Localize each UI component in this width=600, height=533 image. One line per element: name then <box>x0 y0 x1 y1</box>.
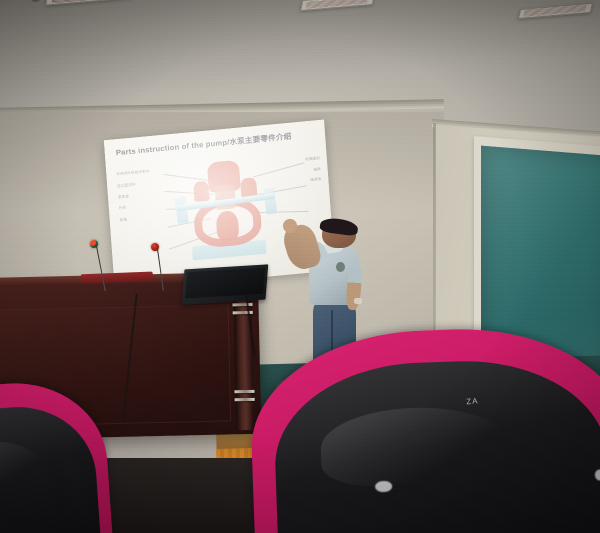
slide-label-left-3: 泵体盖 <box>118 190 171 200</box>
slide-label-left-1: 半开式叶轮技术条件 <box>116 167 169 177</box>
seat-highlight <box>320 405 509 488</box>
slide-label-left-5: 泵轴 <box>120 213 173 223</box>
presenter-laptop <box>182 264 269 304</box>
seat-marking: ZA <box>465 397 478 407</box>
column-ring-2 <box>233 311 253 314</box>
seat-specular-1 <box>375 481 392 493</box>
seat-foreground-right: ZA <box>248 324 600 533</box>
slide-label-right-3: 轴承体 <box>273 176 322 186</box>
pump-cross-section-diagram <box>172 154 280 263</box>
presenter-wristwatch-icon <box>354 298 362 304</box>
seat-foreground-left <box>0 377 114 533</box>
slide-labels-left: 半开式叶轮技术条件 进口密封环 泵体盖 叶轮 泵轴 <box>116 167 173 229</box>
slide-label-left-4: 叶轮 <box>119 201 172 211</box>
pump-lobe-left <box>193 181 210 202</box>
slide-label-left-2: 进口密封环 <box>117 179 170 189</box>
pump-flange-right <box>263 187 277 214</box>
column-ring-1 <box>233 303 253 306</box>
seat-highlight <box>0 438 43 502</box>
lecture-hall-photo: Parts instruction of the pump/水泵主要零件介绍 半… <box>0 0 600 533</box>
seat-specular-2 <box>595 469 600 481</box>
slide-label-right-2: 轴承 <box>272 166 321 176</box>
